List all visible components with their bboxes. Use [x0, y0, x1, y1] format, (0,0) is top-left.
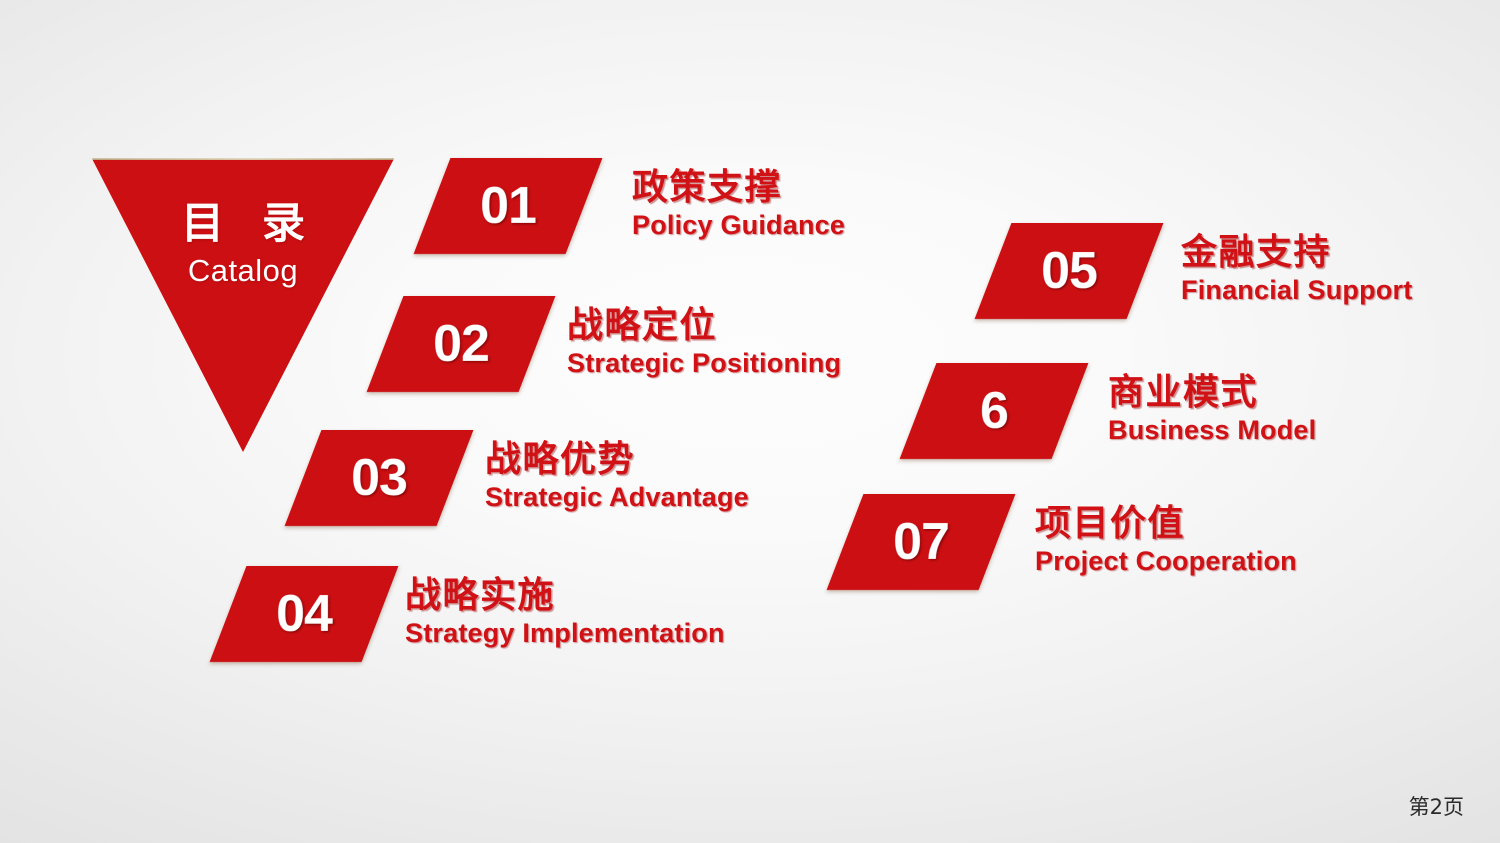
agenda-item-title-cn: 战略实施 [405, 574, 725, 616]
agenda-item-labels: 政策支撑Policy Guidance [632, 166, 845, 242]
catalog-triangle[interactable]: 目 录 Catalog [90, 156, 396, 452]
agenda-item-number: 02 [385, 296, 537, 392]
agenda-item-title-cn: 项目价值 [1035, 502, 1297, 544]
agenda-item-title-en: Strategic Positioning [567, 347, 841, 380]
agenda-item-number: 07 [845, 494, 997, 590]
triangle-top-highlight [91, 156, 395, 160]
agenda-item-number: 05 [993, 223, 1145, 319]
agenda-item-badge: 03 [285, 430, 474, 526]
agenda-item-title-cn: 战略优势 [485, 438, 749, 480]
agenda-item-badge: 07 [827, 494, 1016, 590]
agenda-item-number: 01 [432, 158, 584, 254]
triangle-shape [90, 156, 396, 452]
agenda-item-title-en: Business Model [1108, 414, 1316, 447]
agenda-item-badge: 01 [414, 158, 603, 254]
agenda-item-labels: 商业模式Business Model [1108, 371, 1316, 447]
agenda-item-badge: 05 [975, 223, 1164, 319]
agenda-item-labels: 项目价值Project Cooperation [1035, 502, 1297, 578]
agenda-item-title-cn: 政策支撑 [632, 166, 845, 208]
agenda-item-title-cn: 商业模式 [1108, 371, 1316, 413]
agenda-item-title-cn: 金融支持 [1181, 231, 1412, 273]
agenda-item-title-en: Project Cooperation [1035, 545, 1297, 578]
agenda-item-title-en: Strategy Implementation [405, 617, 725, 650]
agenda-item-badge: 04 [210, 566, 399, 662]
agenda-item-badge: 6 [900, 363, 1089, 459]
agenda-item-title-en: Policy Guidance [632, 209, 845, 242]
agenda-item-number: 04 [228, 566, 380, 662]
agenda-item-title-en: Financial Support [1181, 274, 1412, 307]
agenda-item-labels: 战略实施Strategy Implementation [405, 574, 725, 650]
agenda-item-labels: 金融支持Financial Support [1181, 231, 1412, 307]
page-number: 第2页 [1409, 791, 1464, 821]
agenda-item-badge: 02 [367, 296, 556, 392]
agenda-item-number: 03 [303, 430, 455, 526]
agenda-item-title-cn: 战略定位 [567, 304, 841, 346]
agenda-item-labels: 战略定位Strategic Positioning [567, 304, 841, 380]
catalog-slide: 目 录 Catalog 01政策支撑Policy Guidance02战略定位S… [0, 0, 1500, 843]
agenda-item-title-en: Strategic Advantage [485, 481, 749, 514]
agenda-item-number: 6 [918, 363, 1070, 459]
agenda-item-labels: 战略优势Strategic Advantage [485, 438, 749, 514]
